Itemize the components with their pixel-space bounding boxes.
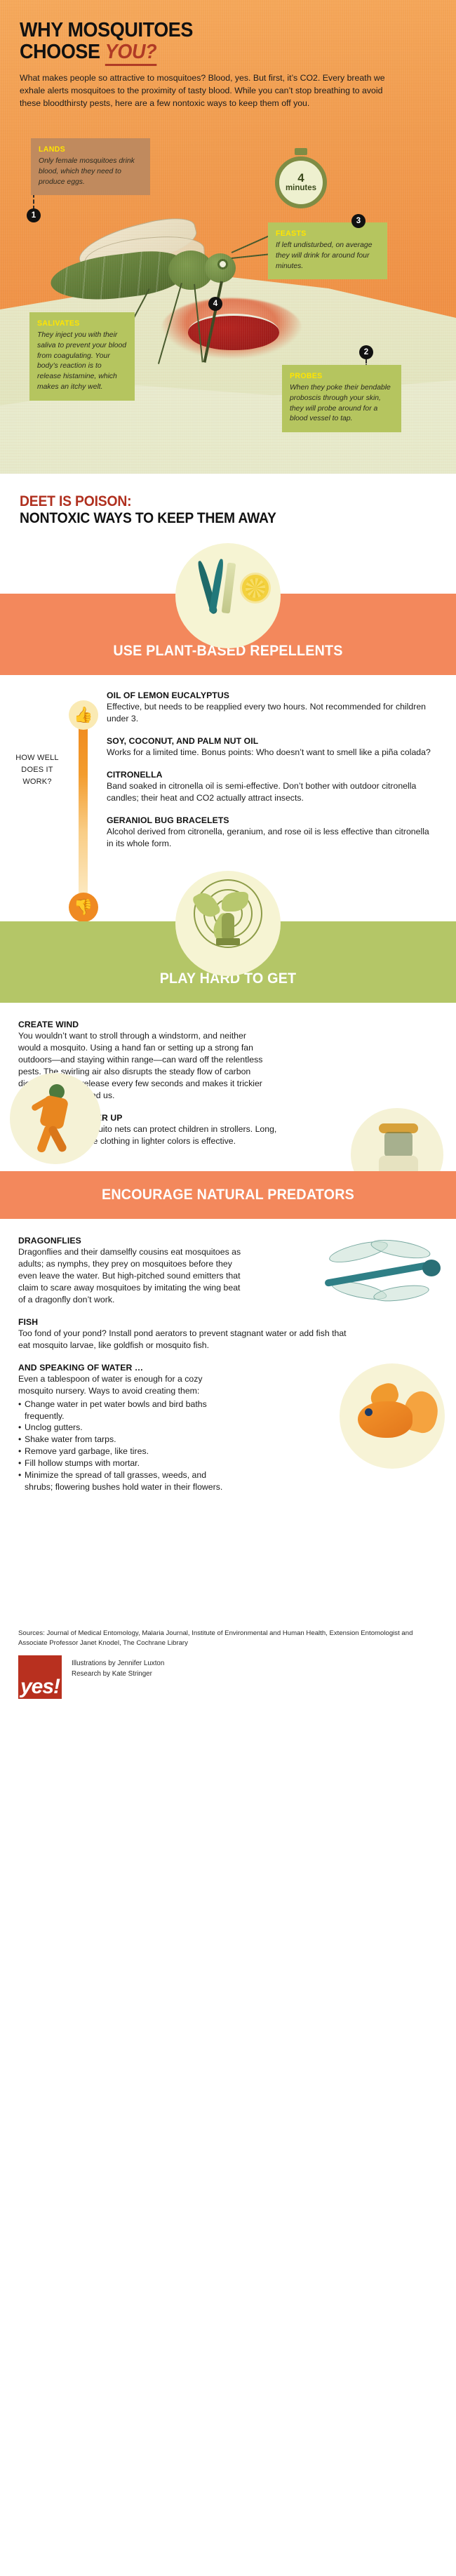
callout-probes-body: When they poke their bendable proboscis … bbox=[290, 384, 391, 422]
callout-salivates-body: They inject you with their saliva to pre… bbox=[37, 331, 126, 391]
step-badge-2: 2 bbox=[359, 345, 373, 359]
repellent-name: SOY, COCONUT, AND PALM NUT OIL bbox=[107, 736, 438, 746]
title-line-1: WHY MOSQUITOES bbox=[20, 19, 193, 41]
deet-heading-section: DEET IS POISON: NONTOXIC WAYS TO KEEP TH… bbox=[0, 474, 456, 539]
list-item: Remove yard garbage, like tires. bbox=[18, 1446, 229, 1457]
runner-illustration bbox=[10, 1073, 101, 1164]
intro-paragraph: What makes people so attractive to mosqu… bbox=[20, 72, 398, 109]
fan-neck-icon bbox=[222, 913, 234, 941]
credits-block: Illustrations by Jennifer Luxton Researc… bbox=[72, 1655, 164, 1679]
dragonfly-head bbox=[422, 1260, 441, 1276]
predator-body: Too fond of your pond? Install pond aera… bbox=[18, 1328, 355, 1352]
page-title: WHY MOSQUITOES CHOOSE YOU? bbox=[20, 20, 407, 62]
effectiveness-label: HOW WELL DOES IT WORK? bbox=[7, 752, 67, 788]
list-item: Change water in pet water bowls and bird… bbox=[18, 1399, 229, 1422]
sources-text: Sources: Journal of Medical Entomology, … bbox=[18, 1629, 425, 1648]
play-body: Mosquito nets can protect children in st… bbox=[77, 1123, 288, 1147]
repellent-desc: Effective, but needs to be reapplied eve… bbox=[107, 701, 438, 725]
predator-body: Dragonflies and their damselfly cousins … bbox=[18, 1246, 243, 1306]
repellent-item: OIL OF LEMON EUCALYPTUS Effective, but n… bbox=[107, 690, 438, 725]
step-badge-1: 1 bbox=[27, 208, 41, 222]
repellents-section: HOW WELL DOES IT WORK? 👍 👎 OIL OF LEMON … bbox=[0, 675, 456, 867]
repellent-item: CITRONELLA Band soaked in citronella oil… bbox=[107, 770, 438, 804]
list-item: Shake water from tarps. bbox=[18, 1434, 229, 1446]
fan-base-icon bbox=[216, 938, 240, 945]
predators-body: DRAGONFLIES Dragonflies and their damsel… bbox=[0, 1219, 456, 1612]
mosquito-antenna-2 bbox=[232, 253, 272, 259]
callout-probes-heading: PROBES bbox=[290, 371, 394, 382]
callout-salivates-heading: SALIVATES bbox=[37, 319, 127, 329]
goldfish-illustration bbox=[340, 1363, 445, 1469]
step-badge-3: 3 bbox=[351, 214, 366, 228]
repellent-items-list: OIL OF LEMON EUCALYPTUS Effective, but n… bbox=[100, 690, 438, 850]
callout-lands-heading: LANDS bbox=[39, 145, 142, 155]
logo-text: yes! bbox=[20, 1677, 60, 1699]
callout-lands-body: Only female mosquitoes drink blood, whic… bbox=[39, 157, 135, 186]
list-item: Minimize the spread of tall grasses, wee… bbox=[18, 1469, 229, 1493]
repellent-name: GERANIOL BUG BRACELETS bbox=[107, 815, 438, 825]
repellent-item: SOY, COCONUT, AND PALM NUT OIL Works for… bbox=[107, 736, 438, 759]
callout-salivates: SALIVATES They inject you with their sal… bbox=[29, 312, 135, 401]
banner-natural-predators: ENCOURAGE NATURAL PREDATORS bbox=[0, 1171, 456, 1219]
predator-heading: AND SPEAKING OF WATER … bbox=[18, 1363, 229, 1373]
banner-play-hard-to-get: PLAY HARD TO GET bbox=[0, 921, 456, 1003]
repellent-desc: Works for a limited time. Bonus points: … bbox=[107, 747, 438, 759]
play-heading: COVER UP bbox=[77, 1113, 288, 1123]
footer: Sources: Journal of Medical Entomology, … bbox=[0, 1612, 456, 1719]
mosquito-diagram: 4 minutes 1 3 4 2 LANDS Only female mosq… bbox=[0, 123, 456, 474]
play-block-cover-up: COVER UP Mosquito nets can protect child… bbox=[77, 1113, 288, 1147]
thumbs-down-icon: 👎 bbox=[69, 893, 98, 922]
dragonfly-wing-lower-right bbox=[373, 1282, 430, 1304]
play-hard-body: CREATE WIND You wouldn’t want to stroll … bbox=[0, 1003, 456, 1171]
callout-probes: PROBES When they poke their bendable pro… bbox=[282, 365, 401, 432]
credit-row: yes! Illustrations by Jennifer Luxton Re… bbox=[18, 1655, 438, 1699]
callout-feasts: FEASTS If left undisturbed, on average t… bbox=[268, 222, 387, 279]
predator-block-dragonflies: DRAGONFLIES Dragonflies and their damsel… bbox=[18, 1236, 243, 1306]
predator-heading: DRAGONFLIES bbox=[18, 1236, 243, 1246]
infographic-page: WHY MOSQUITOES CHOOSE YOU? What makes pe… bbox=[0, 0, 456, 1719]
banner-plant-repellents: USE PLANT-BASED REPELLENTS bbox=[0, 594, 456, 675]
play-heading: CREATE WIND bbox=[18, 1020, 271, 1029]
mosquito-antenna-1 bbox=[232, 234, 273, 253]
research-credit: Research by Kate Stringer bbox=[72, 1669, 164, 1679]
repellent-name: CITRONELLA bbox=[107, 770, 438, 780]
stopwatch-number: 4 bbox=[297, 172, 304, 184]
stopwatch-unit: minutes bbox=[286, 184, 316, 192]
callout-feasts-body: If left undisturbed, on average they wil… bbox=[276, 241, 372, 270]
repellent-desc: Alcohol derived from citronella, geraniu… bbox=[107, 826, 438, 850]
title-emphasis-you: YOU? bbox=[105, 41, 156, 66]
dragonfly-illustration bbox=[303, 1232, 450, 1316]
water-tips-list: Change water in pet water bowls and bird… bbox=[18, 1399, 229, 1494]
dragonfly-body bbox=[324, 1262, 429, 1287]
fan-medallion bbox=[175, 871, 281, 976]
repellent-name: OIL OF LEMON EUCALYPTUS bbox=[107, 690, 438, 700]
stopwatch-crown bbox=[295, 148, 307, 155]
yes-magazine-logo: yes! bbox=[18, 1655, 62, 1699]
plant-repellent-medallion bbox=[175, 543, 281, 648]
callout-lands: LANDS Only female mosquitoes drink blood… bbox=[31, 138, 150, 195]
goldfish-eye bbox=[365, 1408, 373, 1416]
predator-body: Even a tablespoon of water is enough for… bbox=[18, 1373, 229, 1397]
deet-headline-red: DEET IS POISON: bbox=[20, 493, 403, 510]
step-badge-4: 4 bbox=[208, 297, 222, 311]
deet-headline-black: NONTOXIC WAYS TO KEEP THEM AWAY bbox=[20, 510, 403, 526]
predator-block-water: AND SPEAKING OF WATER … Even a tablespoo… bbox=[18, 1363, 229, 1494]
stopwatch-icon: 4 minutes bbox=[275, 156, 327, 208]
predator-heading: FISH bbox=[18, 1317, 355, 1327]
illustrations-credit: Illustrations by Jennifer Luxton bbox=[72, 1658, 164, 1669]
repellent-desc: Band soaked in citronella oil is semi-ef… bbox=[107, 780, 438, 804]
thumbs-up-icon: 👍 bbox=[69, 700, 98, 730]
lemongrass-stalk-icon bbox=[222, 563, 236, 614]
list-item: Fill hollow stumps with mortar. bbox=[18, 1457, 229, 1469]
list-item: Unclog gutters. bbox=[18, 1422, 229, 1434]
title-line-2: CHOOSE bbox=[20, 41, 105, 63]
hero-section: WHY MOSQUITOES CHOOSE YOU? What makes pe… bbox=[0, 0, 456, 474]
predator-block-fish: FISH Too fond of your pond? Install pond… bbox=[18, 1317, 355, 1352]
dragonfly-wing-upper-right bbox=[370, 1236, 432, 1262]
repellent-item: GERANIOL BUG BRACELETS Alcohol derived f… bbox=[107, 815, 438, 850]
blood-pool bbox=[188, 314, 279, 350]
callout-feasts-heading: FEASTS bbox=[276, 229, 380, 239]
goldfish-body bbox=[358, 1401, 413, 1438]
lemon-slice-icon bbox=[240, 573, 271, 603]
scale-gradient-bar bbox=[79, 721, 88, 911]
mosquito-eye bbox=[217, 259, 228, 269]
effectiveness-label-wrap: HOW WELL DOES IT WORK? bbox=[7, 690, 67, 850]
banner-heading-predators: ENCOURAGE NATURAL PREDATORS bbox=[14, 1187, 443, 1203]
beekeeper-net bbox=[384, 1132, 413, 1157]
effectiveness-scale: 👍 👎 bbox=[67, 690, 100, 850]
